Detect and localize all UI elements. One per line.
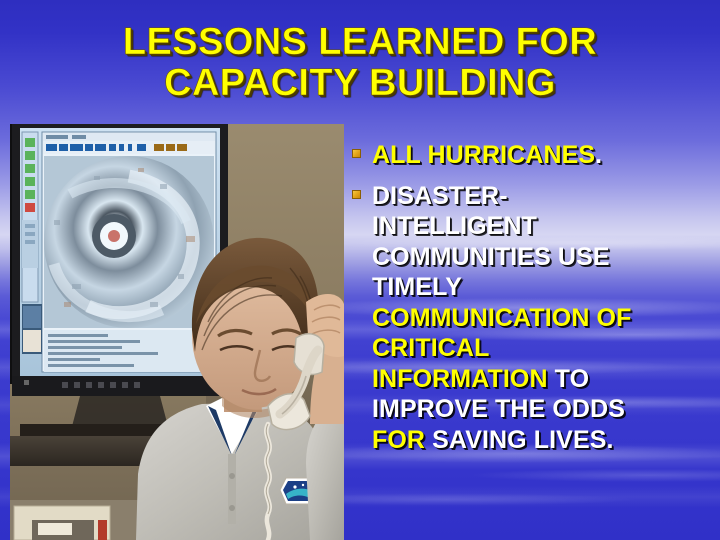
bullet-2-line-9-white: SAVING LIVES. (432, 426, 613, 454)
bullet-2-line-7-white: TO (555, 365, 589, 393)
list-item: DISASTER- INTELLIGENT COMMUNITIES USE TI… (352, 181, 714, 456)
bullet-2-line-2: INTELLIGENT (372, 211, 714, 242)
bullet-2-line-7: INFORMATION TO (372, 364, 714, 395)
bullet-list: ALL HURRICANES. DISASTER- INTELLIGENT CO… (352, 140, 714, 465)
bullet-2-line-9: FOR SAVING LIVES. (372, 425, 714, 456)
title-line-1: LESSONS LEARNED FOR (60, 22, 660, 63)
slide-photo (10, 124, 344, 540)
bullet-1-segment-2: . (595, 141, 602, 169)
bullet-2-line-3: COMMUNITIES USE (372, 242, 714, 273)
bullet-text-2: DISASTER- INTELLIGENT COMMUNITIES USE TI… (372, 181, 714, 456)
square-bullet-icon (352, 149, 361, 158)
bullet-2-line-1: DISASTER- (372, 181, 714, 212)
bullet-1-segment-1: ALL HURRICANES (372, 141, 595, 169)
bullet-2-line-4: TIMELY (372, 272, 714, 303)
slide-title: LESSONS LEARNED FOR CAPACITY BUILDING (60, 22, 660, 104)
photo-illustration (10, 124, 344, 540)
bullet-2-line-9-yellow: FOR (372, 426, 432, 454)
presentation-slide: LESSONS LEARNED FOR CAPACITY BUILDING (0, 0, 720, 540)
square-bullet-icon (352, 190, 361, 199)
list-item: ALL HURRICANES. (352, 140, 714, 171)
bullet-2-line-7-yellow: INFORMATION (372, 365, 548, 393)
bullet-2-line-5: COMMUNICATION OF (372, 303, 714, 334)
bullet-text-1: ALL HURRICANES. (372, 140, 714, 171)
title-line-2: CAPACITY BUILDING (60, 63, 660, 104)
bullet-2-line-8: IMPROVE THE ODDS (372, 394, 714, 425)
bullet-2-line-6: CRITICAL (372, 333, 714, 364)
